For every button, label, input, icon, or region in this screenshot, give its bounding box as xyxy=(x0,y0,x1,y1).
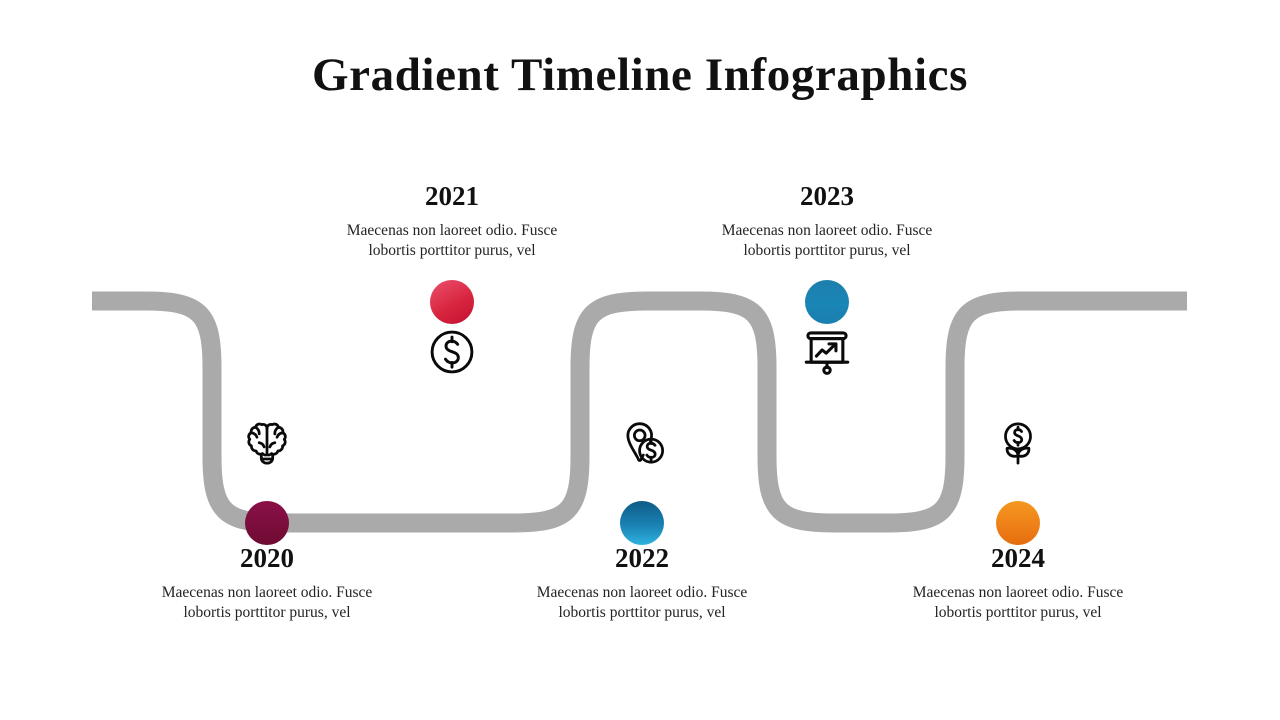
milestone-dot-2023 xyxy=(805,280,849,324)
milestone-dot-2024 xyxy=(996,501,1040,545)
milestone-2023[interactable]: 2023 Maecenas non laoreet odio. Fusce lo… xyxy=(712,280,942,324)
milestone-dot-2022 xyxy=(620,501,664,545)
milestone-description-2024: Maecenas non laoreet odio. Fusce loborti… xyxy=(903,583,1133,622)
milestone-year-2023: 2023 xyxy=(712,183,942,210)
location-pin-money-icon xyxy=(614,416,670,472)
infographic-canvas: Gradient Timeline Infographics 2020 xyxy=(0,0,1280,720)
milestone-dot-2020 xyxy=(245,501,289,545)
presentation-growth-icon xyxy=(799,324,855,380)
milestone-description-2022: Maecenas non laoreet odio. Fusce loborti… xyxy=(527,583,757,622)
timeline-wave-stroke xyxy=(92,301,1187,523)
milestone-description-2020: Maecenas non laoreet odio. Fusce loborti… xyxy=(152,583,382,622)
dollar-coin-icon xyxy=(424,324,480,380)
milestone-text-2022: 2022 Maecenas non laoreet odio. Fusce lo… xyxy=(527,545,757,622)
money-flower-icon xyxy=(990,416,1046,472)
milestone-text-2021: 2021 Maecenas non laoreet odio. Fusce lo… xyxy=(337,183,567,260)
milestone-year-2022: 2022 xyxy=(527,545,757,572)
milestone-text-2020: 2020 Maecenas non laoreet odio. Fusce lo… xyxy=(152,545,382,622)
milestone-description-2021: Maecenas non laoreet odio. Fusce loborti… xyxy=(337,221,567,260)
milestone-2022[interactable]: 2022 Maecenas non laoreet odio. Fusce lo… xyxy=(527,501,757,661)
milestone-dot-2021 xyxy=(430,280,474,324)
milestone-text-2023: 2023 Maecenas non laoreet odio. Fusce lo… xyxy=(712,183,942,260)
milestone-text-2024: 2024 Maecenas non laoreet odio. Fusce lo… xyxy=(903,545,1133,622)
milestone-2021[interactable]: 2021 Maecenas non laoreet odio. Fusce lo… xyxy=(337,280,567,324)
milestone-description-2023: Maecenas non laoreet odio. Fusce loborti… xyxy=(712,221,942,260)
brain-icon xyxy=(239,416,295,472)
page-title: Gradient Timeline Infographics xyxy=(0,47,1280,103)
milestone-year-2024: 2024 xyxy=(903,545,1133,572)
milestone-year-2021: 2021 xyxy=(337,183,567,210)
milestone-year-2020: 2020 xyxy=(152,545,382,572)
milestone-2020[interactable]: 2020 Maecenas non laoreet odio. Fusce lo… xyxy=(152,501,382,661)
milestone-2024[interactable]: 2024 Maecenas non laoreet odio. Fusce lo… xyxy=(903,501,1133,661)
